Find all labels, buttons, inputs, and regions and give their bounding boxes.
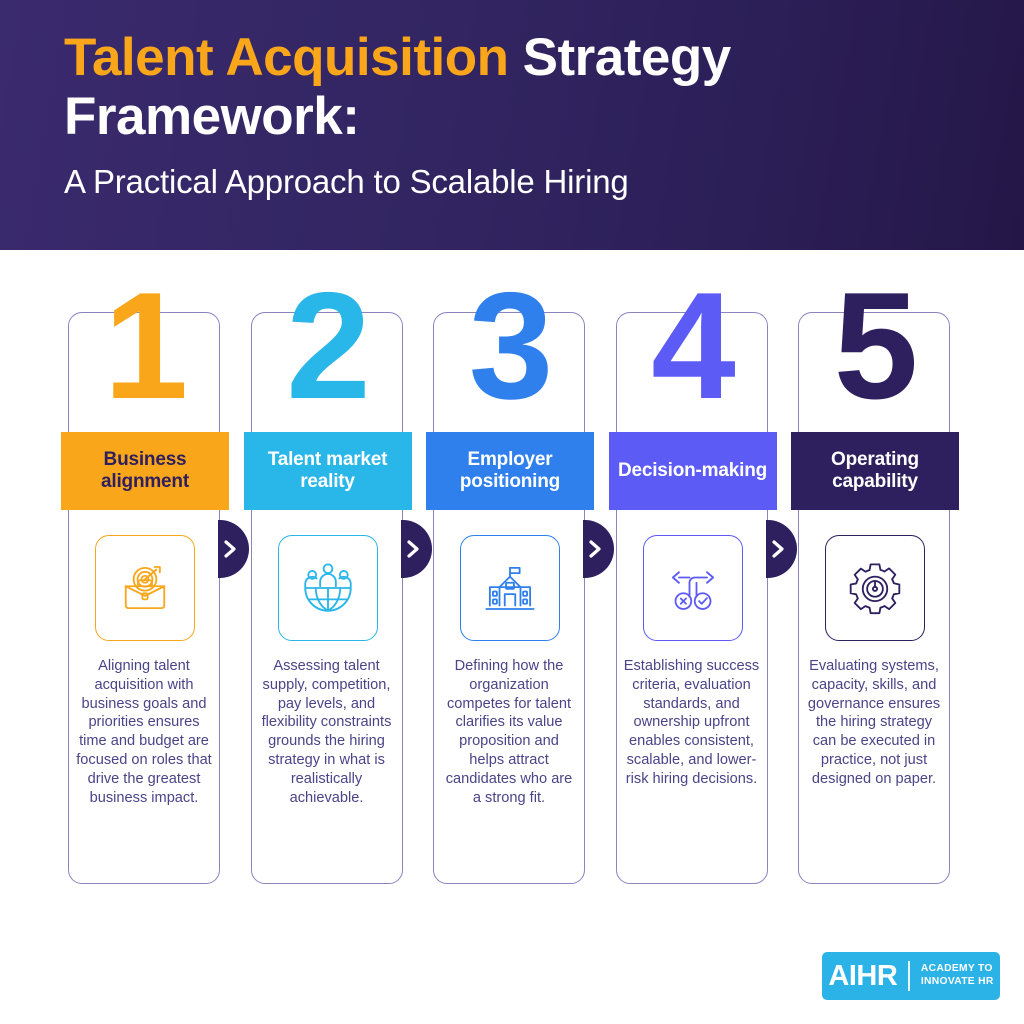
step-card-3: 3Employer positioningDefining how the or… [433,312,585,884]
title-accent-text: Talent Acquisition [64,28,508,87]
step-card-2: 2Talent market realityAssessing talent s… [251,312,403,884]
chevron-right-icon [587,539,603,559]
header-banner: Talent Acquisition Strategy Framework: A… [0,0,1024,250]
header-text-block: Talent Acquisition Strategy Framework: A… [64,30,964,201]
aihr-logo: AIHR ACADEMY TO INNOVATE HR [822,952,1000,1000]
decision-fork-icon [665,560,721,616]
step-card-4: 4Decision-makingEstablishing success cri… [616,312,768,884]
step-label-band-4: Decision-making [609,432,777,510]
step-icon-box-1 [95,535,195,641]
logo-divider [908,961,910,991]
step-icon-box-2 [278,535,378,641]
step-connector-4 [766,520,797,578]
step-label-band-3: Employer positioning [426,432,594,510]
step-description-5: Evaluating systems, capacity, skills, an… [806,657,942,789]
logo-tagline: ACADEMY TO INNOVATE HR [910,963,994,989]
step-connector-2 [401,520,432,578]
gear-gauge-icon [847,560,903,616]
step-icon-box-5 [825,535,925,641]
steps-row: 1Business alignmentAligning talent acqui… [0,250,1024,950]
logo-tagline-line-1: ACADEMY TO [921,963,994,976]
chevron-right-icon [770,539,786,559]
step-number-2: 2 [252,251,402,441]
step-label-band-1: Business alignment [61,432,229,510]
infographic-page: Talent Acquisition Strategy Framework: A… [0,0,1024,1024]
step-icon-box-4 [643,535,743,641]
step-description-1: Aligning talent acquisition with busines… [76,657,212,808]
briefcase-target-icon [117,560,173,616]
logo-tagline-line-2: INNOVATE HR [921,976,994,989]
step-number-5: 5 [799,251,949,441]
step-label-4: Decision-making [618,460,767,482]
logo-wordmark: AIHR [828,960,908,993]
step-connector-3 [583,520,614,578]
step-number-3: 3 [434,251,584,441]
globe-people-icon [300,560,356,616]
chevron-right-icon [405,539,421,559]
building-flag-icon [482,560,538,616]
title-rest-text: Strategy [508,28,730,87]
step-label-band-2: Talent market reality [244,432,412,510]
step-card-5: 5Operating capabilityEvaluating systems,… [798,312,950,884]
page-subtitle: A Practical Approach to Scalable Hiring [64,163,964,201]
step-number-4: 4 [617,251,767,441]
step-description-4: Establishing success criteria, evaluatio… [624,657,760,789]
chevron-right-icon [222,539,238,559]
step-label-2: Talent market reality [250,449,406,493]
page-title-line-1: Talent Acquisition Strategy [64,30,964,86]
step-label-5: Operating capability [797,449,953,493]
step-label-3: Employer positioning [432,449,588,493]
page-title-line-2: Framework: [64,86,964,149]
step-connector-1 [218,520,249,578]
step-icon-box-3 [460,535,560,641]
step-label-band-5: Operating capability [791,432,959,510]
step-description-3: Defining how the organization competes f… [441,657,577,808]
step-label-1: Business alignment [67,449,223,493]
step-description-2: Assessing talent supply, competition, pa… [259,657,395,808]
step-number-1: 1 [69,251,219,441]
step-card-1: 1Business alignmentAligning talent acqui… [68,312,220,884]
